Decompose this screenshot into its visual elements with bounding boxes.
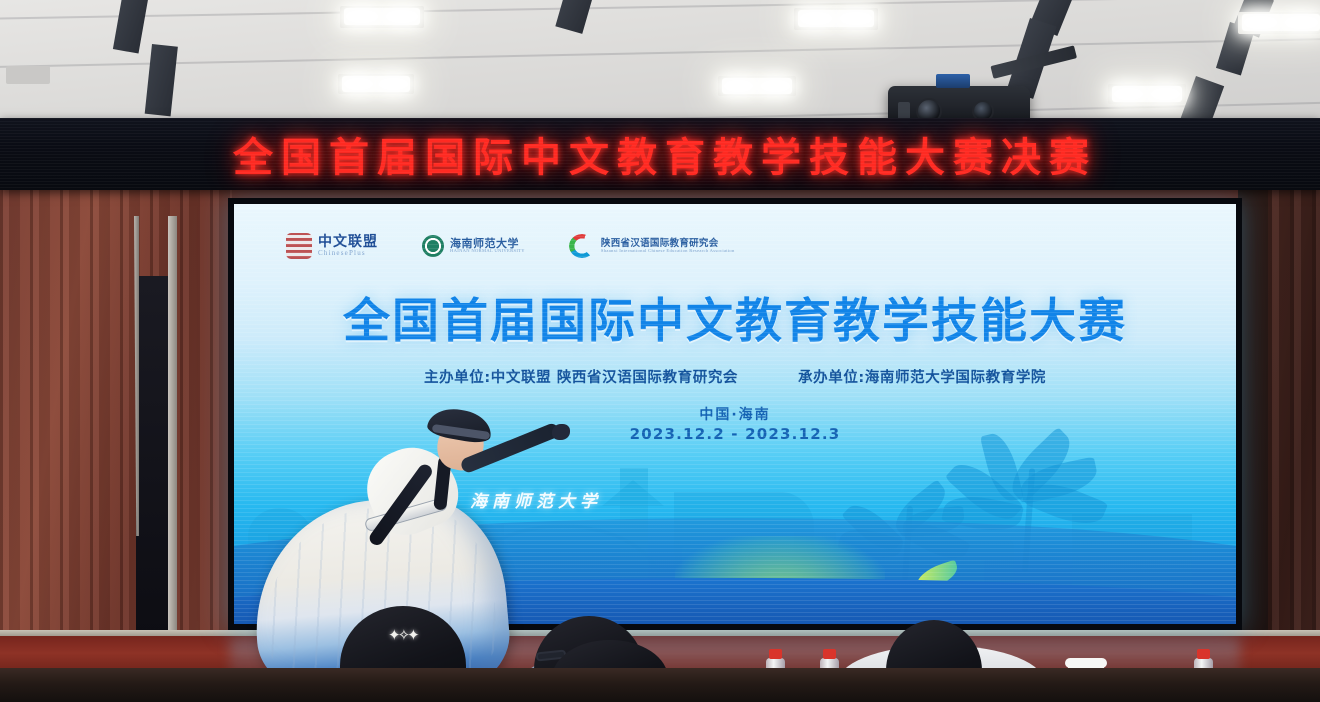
logo-chineseplus-cn: 中文联盟	[318, 235, 378, 249]
ceiling-light	[798, 10, 874, 27]
curtain-left	[0, 188, 232, 643]
bottle-cap	[823, 649, 836, 659]
ceiling-light	[1242, 14, 1320, 31]
led-banner-text: 全国首届国际中文教育教学技能大赛决赛	[223, 125, 1097, 183]
logo-chineseplus-en: ChinesePlus	[318, 250, 378, 257]
projector-bracket	[936, 74, 970, 88]
logo-hainan-normal-university: 海南师范大学 HAINAN NORMAL UNIVERSITY	[422, 235, 525, 257]
ceiling-light	[344, 8, 420, 25]
host-organization: 主办单位:中文联盟 陕西省汉语国际教育研究会	[424, 366, 738, 387]
hairpin-icon: ✦✧✦	[388, 626, 417, 644]
door-frame	[168, 216, 177, 636]
organizer-row: 主办单位:中文联盟 陕西省汉语国际教育研究会 承办单位:海南师范大学国际教育学院	[234, 366, 1236, 387]
door-edge	[134, 216, 139, 536]
wall-right	[1238, 188, 1272, 643]
c-swoosh-icon	[569, 234, 595, 258]
university-seal-icon	[422, 235, 444, 257]
ceiling-beam	[555, 0, 595, 34]
audience-table	[0, 668, 1320, 702]
ceiling-beam	[113, 0, 150, 54]
led-banner: 全国首届国际中文教育教学技能大赛决赛	[0, 118, 1320, 190]
logo-shaanxi-research-association: 陕西省汉语国际教育研究会 Shaanxi International Chine…	[569, 234, 735, 258]
curtain-right	[1268, 188, 1320, 643]
ceiling-panel-seam	[0, 0, 1320, 21]
ceiling-light	[1112, 86, 1182, 102]
ceiling	[0, 0, 1320, 132]
cup-lid	[1065, 658, 1107, 668]
ceiling-panel-seam	[0, 37, 1320, 69]
logo-shaanxi-en: Shaanxi International Chinese Education …	[601, 249, 735, 254]
logo-hnu-en: HAINAN NORMAL UNIVERSITY	[450, 249, 525, 254]
event-main-title: 全国首届国际中文教育教学技能大赛	[234, 282, 1236, 351]
bottle-cap	[769, 649, 782, 659]
ceiling-beam	[145, 44, 178, 116]
audience-foreground: ✦✧✦	[0, 596, 1320, 702]
door-opening	[136, 276, 172, 636]
light-fixture-plate	[6, 66, 50, 84]
logo-chineseplus: 中文联盟 ChinesePlus	[286, 233, 378, 259]
sponsor-logo-row: 中文联盟 ChinesePlus 海南师范大学 HAINAN NORMAL UN…	[286, 226, 846, 266]
conference-hall-photo: 全国首届国际中文教育教学技能大赛决赛	[0, 0, 1320, 702]
seal-square-icon	[286, 233, 312, 259]
ceiling-light	[342, 76, 410, 92]
dancer-hand	[552, 424, 570, 440]
co-host-organization: 承办单位:海南师范大学国际教育学院	[798, 366, 1046, 387]
bottle-cap	[1197, 649, 1210, 659]
ceiling-light	[722, 78, 792, 94]
